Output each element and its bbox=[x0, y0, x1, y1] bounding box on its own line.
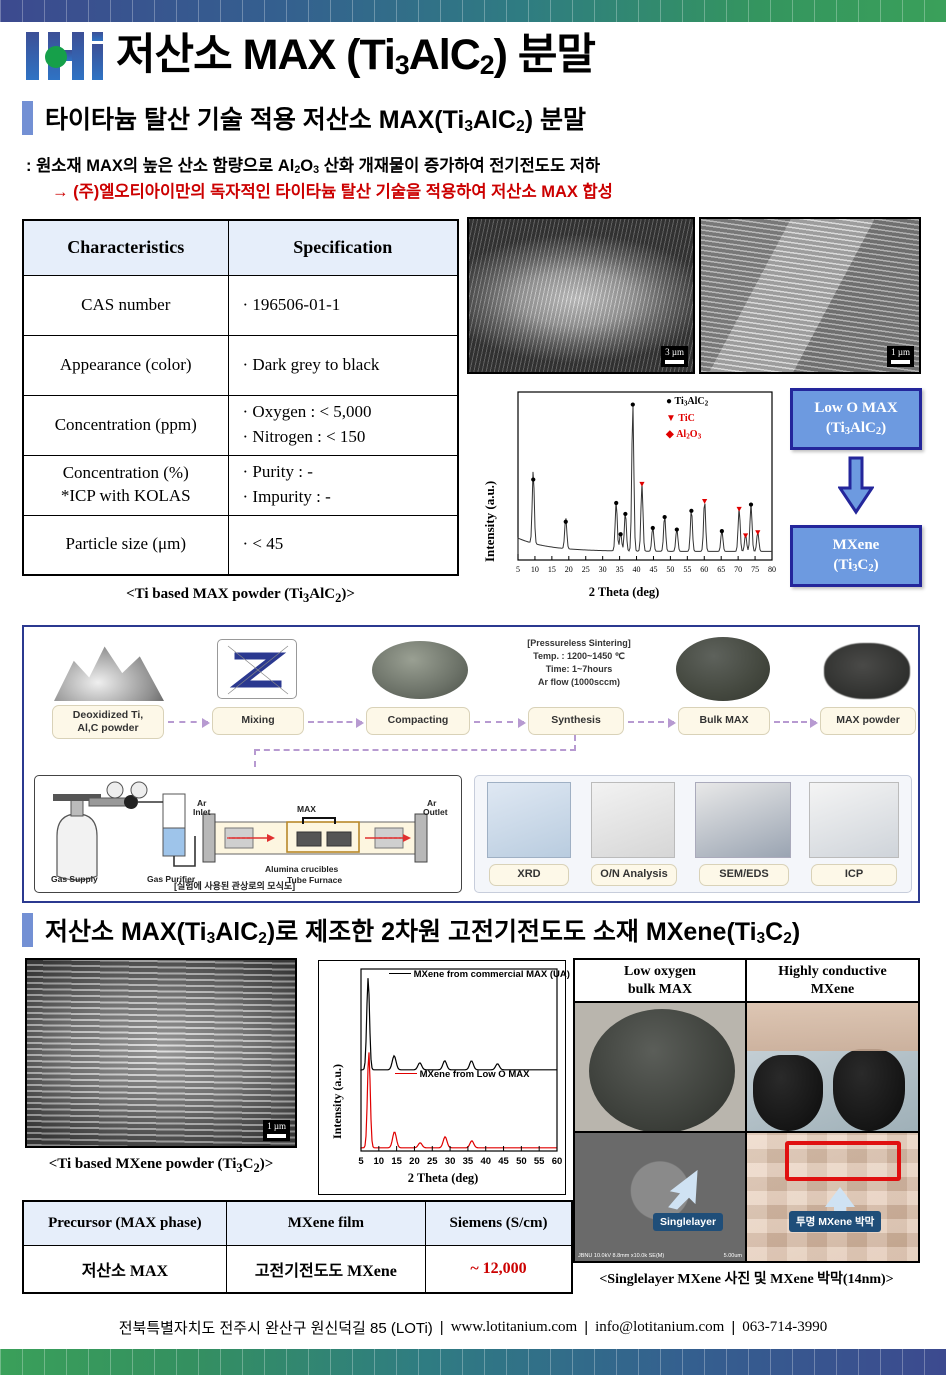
svg-text:70: 70 bbox=[734, 565, 742, 574]
table-row: 저산소 MAX 고전기전도도 MXene ~ 12,000 bbox=[23, 1245, 572, 1293]
label-alumina-crucibles: Alumina crucibles bbox=[265, 864, 338, 874]
scale-bar-label: 3 µm bbox=[661, 346, 688, 367]
spec-line: · Nitrogen : < 150 bbox=[243, 425, 458, 450]
on-analysis-photo bbox=[591, 782, 675, 858]
tag-mxene-film: 투명 MXene 박막 bbox=[789, 1211, 881, 1232]
footer-sep: | bbox=[731, 1319, 735, 1336]
svg-text:50: 50 bbox=[516, 1156, 527, 1167]
svg-text:80: 80 bbox=[768, 565, 776, 574]
cell-siemens-value: ~ 12,000 bbox=[425, 1245, 572, 1293]
scale-bar-label: 1 µm bbox=[263, 1120, 290, 1141]
svg-text:20: 20 bbox=[565, 565, 573, 574]
process-flow-panel: [Pressureless Sintering] Temp. : 1200~14… bbox=[22, 625, 920, 903]
photo-comparison-grid: Low oxygen bulk MAX Highly conductive MX… bbox=[573, 958, 920, 1263]
sinter-line: [Pressureless Sintering] bbox=[494, 637, 664, 650]
col-precursor: Precursor (MAX phase) bbox=[23, 1201, 226, 1245]
cell-characteristic: Concentration (ppm) bbox=[23, 395, 228, 455]
cell-characteristic: CAS number bbox=[23, 275, 228, 335]
xrd-photo bbox=[487, 782, 571, 858]
furnace-korean-caption: [실험에 사용된 관상로의 모식도] bbox=[174, 879, 295, 892]
loti-logo bbox=[22, 28, 108, 86]
photo-mxene-film: 투명 MXene 박막 bbox=[747, 1131, 918, 1261]
cell-spec: · < 45 bbox=[228, 515, 458, 575]
tag-singlelayer: Singlelayer bbox=[653, 1213, 723, 1231]
spec-line: · Impurity : - bbox=[243, 485, 458, 510]
process-node-compacting: Compacting bbox=[366, 707, 470, 735]
table-row: Appearance (color) · Dark grey to black bbox=[23, 335, 458, 395]
bottom-gradient-bar bbox=[0, 1349, 946, 1375]
compact-disc-photo bbox=[372, 641, 468, 699]
svg-text:10: 10 bbox=[374, 1156, 385, 1167]
col-characteristics: Characteristics bbox=[23, 220, 228, 275]
pointer-arrow-icon bbox=[663, 1169, 703, 1211]
svg-text:60: 60 bbox=[700, 565, 708, 574]
sintering-conditions: [Pressureless Sintering] Temp. : 1200~14… bbox=[494, 637, 664, 689]
cell-spec: · Oxygen : < 5,000 · Nitrogen : < 150 bbox=[228, 395, 458, 455]
col-specification: Specification bbox=[228, 220, 458, 275]
sem-scale-text: 5.00um bbox=[724, 1253, 742, 1259]
flow-arrow bbox=[628, 721, 674, 723]
cell-characteristic: Particle size (μm) bbox=[23, 515, 228, 575]
flow-box-line1: MXene bbox=[833, 536, 880, 556]
svg-text:75: 75 bbox=[751, 565, 759, 574]
equipment-label-on: O/N Analysis bbox=[591, 864, 677, 886]
char-line: Concentration (%) bbox=[24, 462, 228, 485]
down-arrow-icon bbox=[838, 456, 874, 518]
svg-text:25: 25 bbox=[582, 565, 590, 574]
footer-sep: | bbox=[440, 1319, 444, 1336]
legend-item-commercial: MXene from commercial MAX (UA) bbox=[389, 969, 570, 980]
section1-bullet-2: → (주)엘오티아이만의 독자적인 타이타늄 탈산 기술을 적용하여 저산소 M… bbox=[52, 178, 613, 202]
svg-text:15: 15 bbox=[391, 1156, 402, 1167]
table-row: Particle size (μm) · < 45 bbox=[23, 515, 458, 575]
flow-loop-drop bbox=[254, 749, 256, 767]
icp-photo bbox=[809, 782, 899, 858]
photo-bulk-max-disc bbox=[575, 1003, 747, 1131]
process-node-mixing: Mixing bbox=[212, 707, 304, 735]
svg-text:45: 45 bbox=[498, 1156, 509, 1167]
svg-text:45: 45 bbox=[649, 565, 657, 574]
section1-heading-text: 타이타늄 탈산 기술 적용 저산소 MAX(Ti3AlC2) 분말 bbox=[45, 100, 586, 136]
cell-characteristic: Concentration (%) *ICP with KOLAS bbox=[23, 455, 228, 515]
svg-text:10: 10 bbox=[531, 565, 539, 574]
page-header: 저산소 MAX (Ti3AlC2) 분말 bbox=[0, 24, 946, 94]
svg-text:40: 40 bbox=[633, 565, 641, 574]
page-footer: 전북특별자치도 전주시 완산구 원신덕길 85 (LOTi) | www.lot… bbox=[0, 1305, 946, 1349]
equipment-label-sem: SEM/EDS bbox=[699, 864, 789, 886]
svg-text:5: 5 bbox=[516, 565, 520, 574]
equipment-label-xrd: XRD bbox=[489, 864, 569, 886]
red-highlight-box bbox=[785, 1141, 901, 1181]
table-row: Concentration (%) *ICP with KOLAS · Puri… bbox=[23, 455, 458, 515]
cell-mxene-film: 고전기전도도 MXene bbox=[226, 1245, 425, 1293]
bulk-max-photo bbox=[676, 637, 770, 701]
max-powder-photo bbox=[824, 643, 910, 699]
label-ar-outlet-2: Outlet bbox=[423, 807, 448, 817]
cell-spec: · 196506-01-1 bbox=[228, 275, 458, 335]
equipment-panel: XRD O/N Analysis SEM/EDS ICP bbox=[474, 775, 912, 893]
footer-email[interactable]: info@lotitanium.com bbox=[595, 1319, 724, 1336]
flow-box-low-o-max: Low O MAX (Ti3AlC2) bbox=[790, 388, 922, 450]
flow-loop-line bbox=[254, 749, 576, 751]
cell-spec: · Purity : - · Impurity : - bbox=[228, 455, 458, 515]
table-header-row: Characteristics Specification bbox=[23, 220, 458, 275]
top-gradient-bar bbox=[0, 0, 946, 22]
spec-line: · Oxygen : < 5,000 bbox=[243, 400, 458, 425]
cell-precursor: 저산소 MAX bbox=[23, 1245, 226, 1293]
mxene-sem-caption: <Ti based MXene powder (Ti3C2)> bbox=[25, 1156, 297, 1176]
spec-line: · Purity : - bbox=[243, 460, 458, 485]
label-gas-supply: Gas Supply bbox=[51, 874, 98, 884]
flow-loop-riser bbox=[574, 735, 576, 751]
x-axis-label: 2 Theta (deg) bbox=[484, 585, 764, 600]
flow-box-line1: Low O MAX bbox=[814, 399, 897, 419]
section2-heading: 저산소 MAX(Ti3AlC2)로 제조한 2차원 고전기전도도 소재 MXen… bbox=[22, 912, 800, 948]
footer-website[interactable]: www.lotitanium.com bbox=[451, 1319, 578, 1336]
table-row: Concentration (ppm) · Oxygen : < 5,000 ·… bbox=[23, 395, 458, 455]
legend-item-ti3alc2: ● Ti3AlC2 bbox=[666, 394, 708, 411]
furnace-schematic: Gas Supply Gas Purifier Ar Inlet Ar Outl… bbox=[34, 775, 462, 893]
svg-text:55: 55 bbox=[534, 1156, 545, 1167]
svg-text:30: 30 bbox=[445, 1156, 456, 1167]
sem-image-mxene: 1 µm bbox=[25, 958, 297, 1148]
label-tube-furnace: Tube Furnace bbox=[287, 875, 342, 885]
sem-image-max-particle: 3 µm bbox=[467, 217, 695, 374]
svg-text:25: 25 bbox=[427, 1156, 438, 1167]
cell-characteristic: Appearance (color) bbox=[23, 335, 228, 395]
flow-arrow bbox=[168, 721, 208, 723]
svg-text:30: 30 bbox=[599, 565, 607, 574]
svg-text:35: 35 bbox=[463, 1156, 474, 1167]
photo-singlelayer-sem: Singlelayer JBNU 10.0kV 8.8mm x10.0k SE(… bbox=[575, 1131, 747, 1261]
svg-text:15: 15 bbox=[548, 565, 556, 574]
svg-text:35: 35 bbox=[616, 565, 624, 574]
sem-eds-photo bbox=[695, 782, 791, 858]
legend-item-al2o3: ◆ Al2O3 bbox=[666, 427, 708, 444]
footer-sep: | bbox=[584, 1319, 588, 1336]
flow-arrow bbox=[308, 721, 362, 723]
sem-watermark: JBNU 10.0kV 8.8mm x10.0k SE(M) bbox=[578, 1253, 664, 1259]
svg-text:50: 50 bbox=[666, 565, 674, 574]
page-title: 저산소 MAX (Ti3AlC2) 분말 bbox=[116, 20, 595, 82]
chart-legend: ● Ti3AlC2 ▼ TiC ◆ Al2O3 bbox=[666, 394, 708, 444]
mixer-icon-box bbox=[217, 639, 297, 699]
flow-box-mxene: MXene (Ti3C2) bbox=[790, 525, 922, 587]
xrd-chart-max: Intensity (a.u.) 51015202530354045505560… bbox=[470, 382, 782, 604]
process-node-powder: Deoxidized Ti, Al,C powder bbox=[52, 705, 164, 739]
powder-photo bbox=[54, 639, 164, 701]
sinter-line: Time: 1~7hours bbox=[494, 663, 664, 676]
flow-box-line2: (Ti3C2) bbox=[833, 556, 880, 576]
svg-text:55: 55 bbox=[683, 565, 691, 574]
section-accent-bar bbox=[22, 913, 33, 947]
cell-spec: · Dark grey to black bbox=[228, 335, 458, 395]
flow-box-line2: (Ti3AlC2) bbox=[814, 419, 897, 439]
label-max: MAX bbox=[297, 804, 316, 814]
xrd-chart-mxene: Intensity (a.u.) 51015202530354045505560… bbox=[318, 960, 566, 1195]
process-node-synthesis: Synthesis bbox=[528, 707, 624, 735]
legend-item-lowo: MXene from Low O MAX bbox=[395, 1069, 529, 1080]
photo-header-mxene: Highly conductive MXene bbox=[747, 960, 918, 1003]
sinter-line: Ar flow (1000sccm) bbox=[494, 676, 664, 689]
photo-grid-caption: <Singlelayer MXene 사진 및 MXene 박막(14nm)> bbox=[573, 1268, 920, 1288]
section1-heading: 타이타늄 탈산 기술 적용 저산소 MAX(Ti3AlC2) 분말 bbox=[22, 100, 586, 136]
flow-arrow bbox=[774, 721, 816, 723]
sinter-line: Temp. : 1200~1450 ℃ bbox=[494, 650, 664, 663]
label-ar-inlet-2: Inlet bbox=[193, 807, 210, 817]
svg-text:40: 40 bbox=[480, 1156, 491, 1167]
section1-bullet-1: : 원소재 MAX의 높은 산소 함량으로 Al2O3 산화 개재물이 증가하여… bbox=[26, 152, 600, 176]
flow-arrow bbox=[474, 721, 524, 723]
col-siemens: Siemens (S/cm) bbox=[425, 1201, 572, 1245]
process-node-max-powder: MAX powder bbox=[820, 707, 916, 735]
equipment-label-icp: ICP bbox=[811, 864, 897, 886]
process-node-bulk-max: Bulk MAX bbox=[678, 707, 770, 735]
legend-item-tic: ▼ TiC bbox=[666, 411, 708, 428]
footer-phone: 063-714-3990 bbox=[742, 1319, 827, 1336]
sem-image-max-layers: 1 µm bbox=[699, 217, 921, 374]
spec-table: Characteristics Specification CAS number… bbox=[22, 219, 459, 576]
table-row: CAS number · 196506-01-1 bbox=[23, 275, 458, 335]
svg-text:65: 65 bbox=[717, 565, 725, 574]
photo-header-bulk-max: Low oxygen bulk MAX bbox=[575, 960, 747, 1003]
section2-heading-text: 저산소 MAX(Ti3AlC2)로 제조한 2차원 고전기전도도 소재 MXen… bbox=[45, 912, 800, 948]
svg-text:60: 60 bbox=[552, 1156, 563, 1167]
scale-bar-label: 1 µm bbox=[887, 346, 914, 367]
spec-table-caption: <Ti based MAX powder (Ti3AlC2)> bbox=[22, 586, 459, 606]
svg-text:20: 20 bbox=[409, 1156, 420, 1167]
col-mxene-film: MXene film bbox=[226, 1201, 425, 1245]
photo-mxene-vials bbox=[747, 1003, 918, 1131]
table-header-row: Precursor (MAX phase) MXene film Siemens… bbox=[23, 1201, 572, 1245]
footer-address: 전북특별자치도 전주시 완산구 원신덕길 85 (LOTi) bbox=[119, 1317, 433, 1338]
section-accent-bar bbox=[22, 101, 33, 135]
char-line: *ICP with KOLAS bbox=[24, 485, 228, 508]
svg-text:5: 5 bbox=[358, 1156, 364, 1167]
x-axis-label: 2 Theta (deg) bbox=[333, 1171, 553, 1186]
result-table: Precursor (MAX phase) MXene film Siemens… bbox=[22, 1200, 573, 1294]
